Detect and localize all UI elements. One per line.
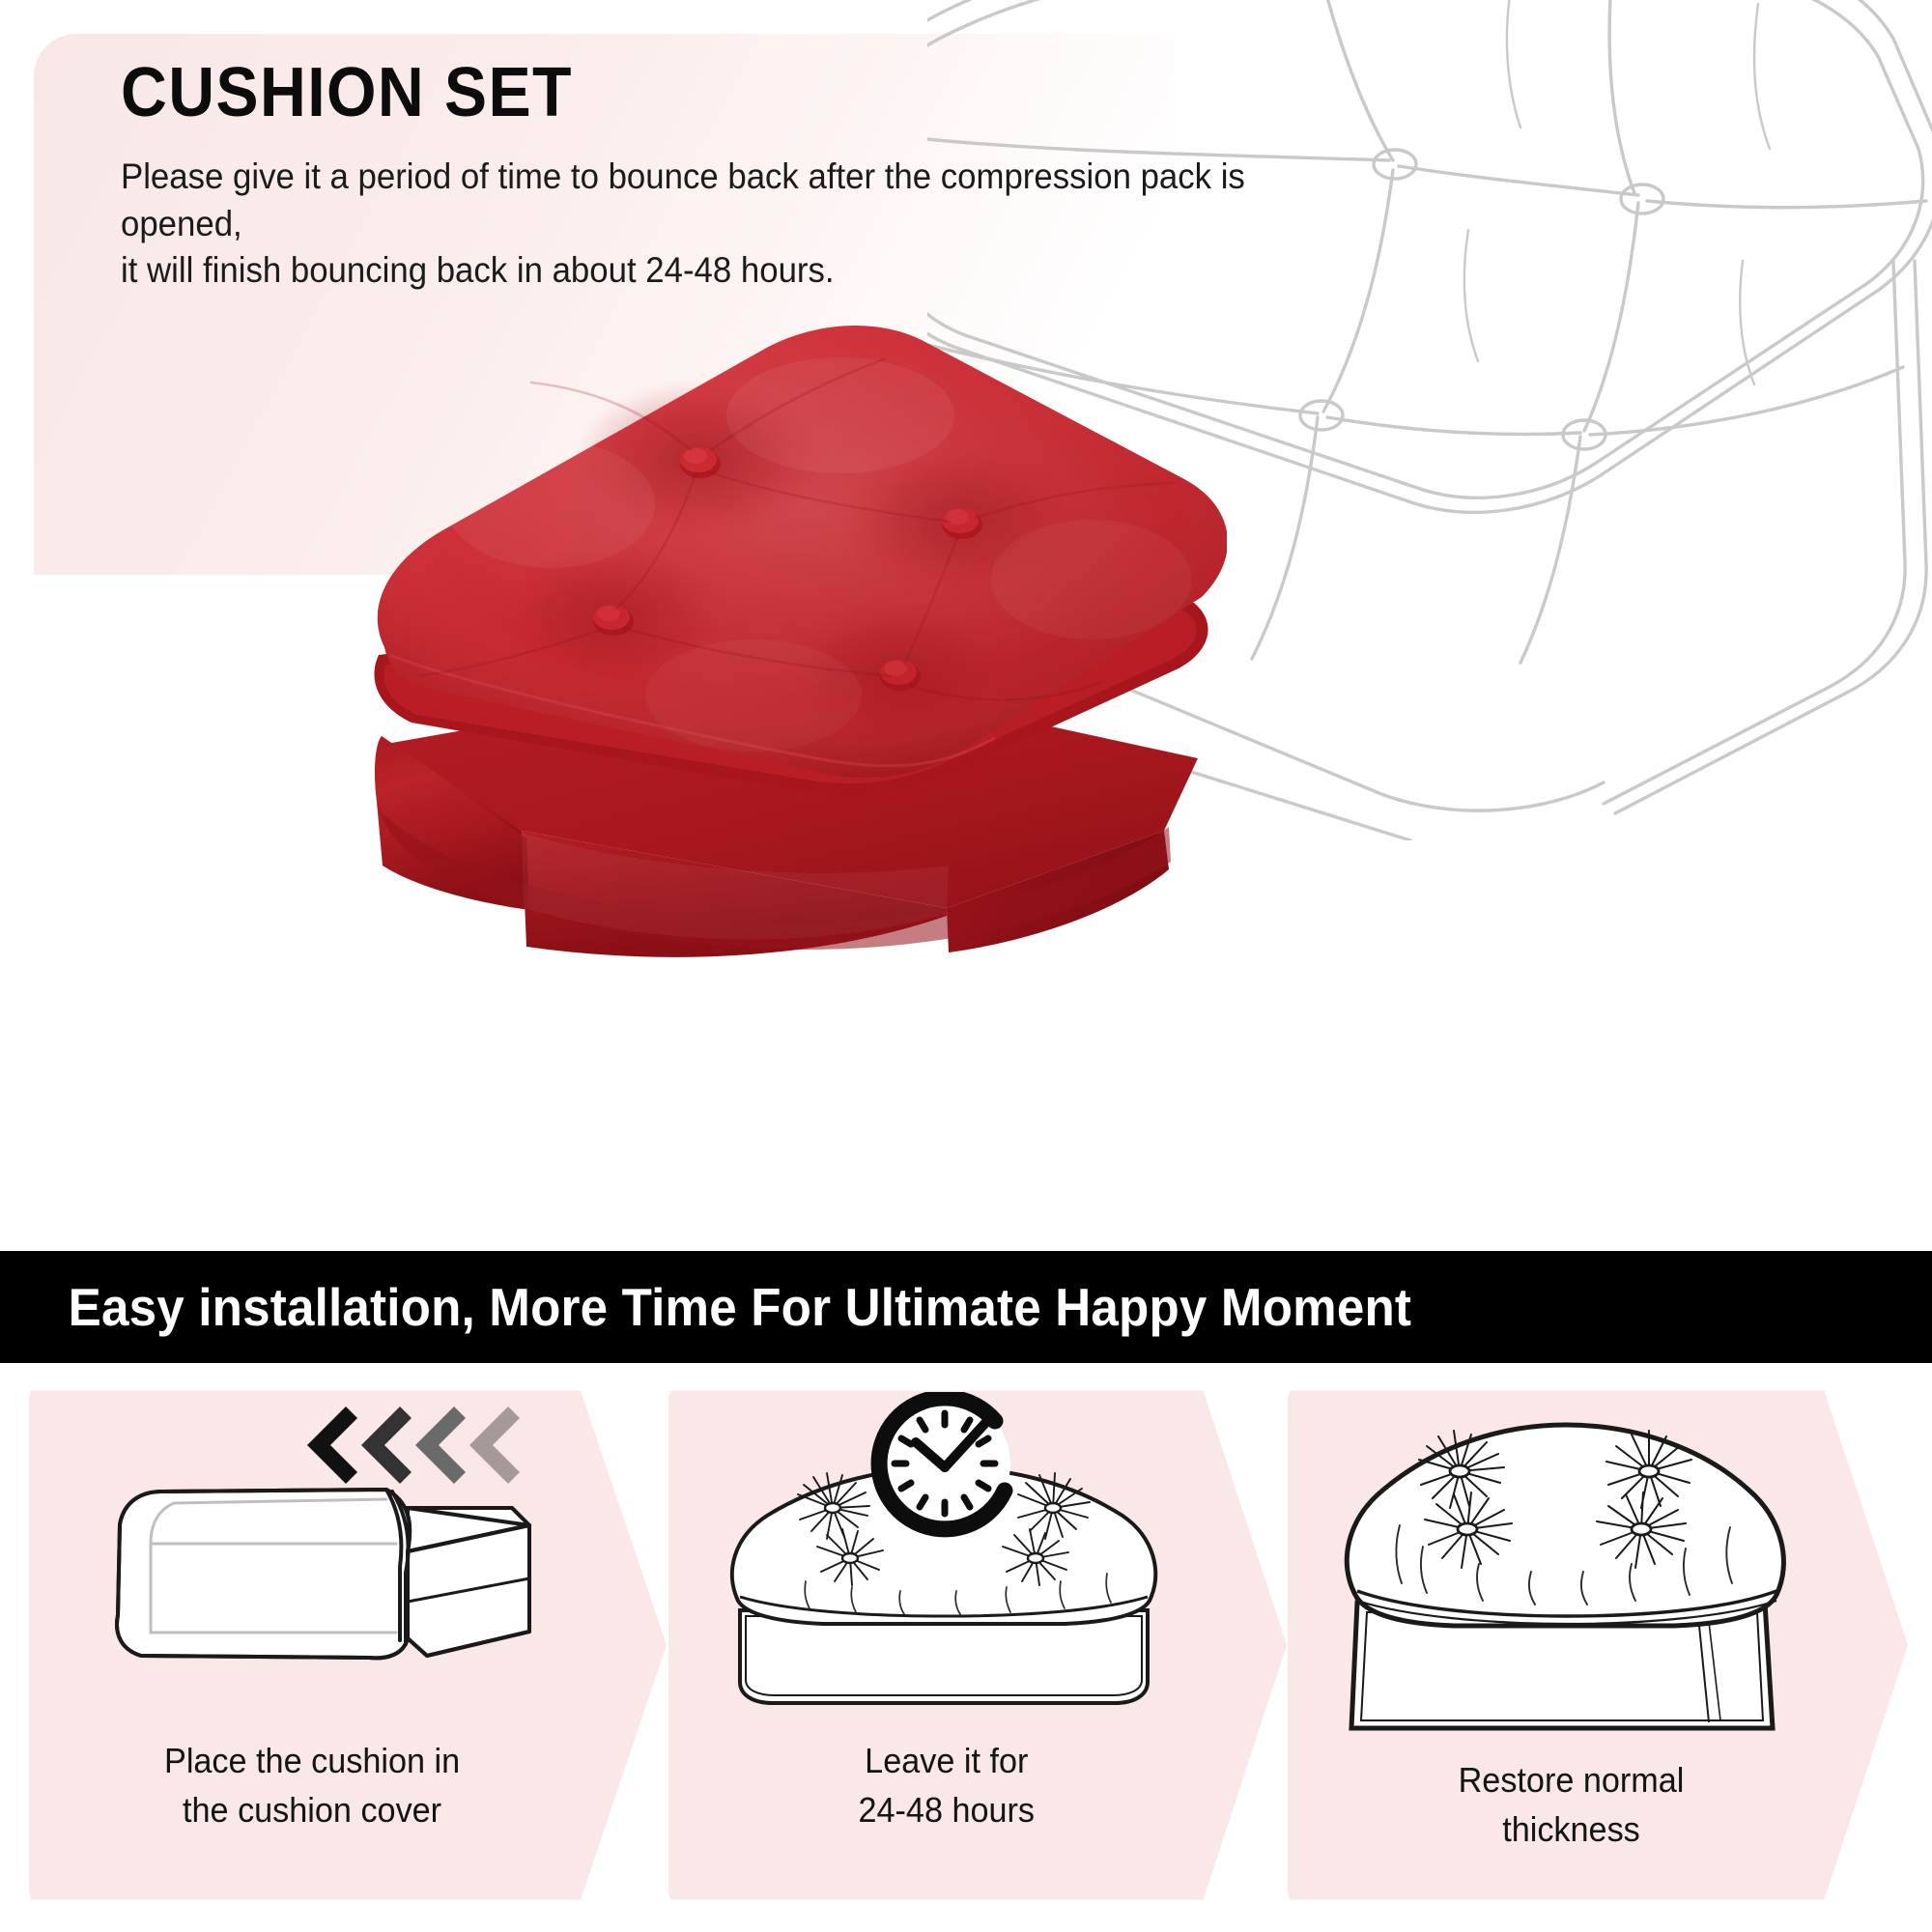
step-1-art <box>29 1377 667 1736</box>
promo-banner-text: Easy installation, More Time For Ultimat… <box>0 1276 1411 1338</box>
lofted-cushion-icon <box>1342 1382 1796 1749</box>
clock-over-cushion-icon <box>717 1392 1171 1720</box>
step-1-caption: Place the cushion in the cushion cover <box>164 1736 531 1834</box>
page-title: CUSHION SET <box>121 58 1293 128</box>
step-2-caption: Leave it for 24-48 hours <box>858 1736 1096 1834</box>
cushion-into-cover-icon <box>68 1397 551 1716</box>
hero-text-block: CUSHION SET Please give it a period of t… <box>121 58 1396 294</box>
step-3-caption: Restore normal thickness <box>1459 1755 1738 1854</box>
step-panel-place-cushion[interactable]: Place the cushion in the cushion cover <box>29 1377 667 1914</box>
step-panel-leave-it[interactable]: Leave it for 24-48 hours <box>668 1377 1287 1914</box>
page-subtitle: Please give it a period of time to bounc… <box>121 154 1320 293</box>
step-2-art <box>668 1377 1287 1736</box>
step-3-art <box>1288 1377 1908 1755</box>
red-cushion-product-image <box>357 290 1227 966</box>
step-panel-restore-thickness[interactable]: Restore normal thickness <box>1288 1377 1908 1914</box>
hero-section: CUSHION SET Please give it a period of t… <box>0 0 1932 1251</box>
promo-banner: Easy installation, More Time For Ultimat… <box>0 1251 1932 1363</box>
installation-steps: Place the cushion in the cushion cover <box>0 1377 1932 1914</box>
